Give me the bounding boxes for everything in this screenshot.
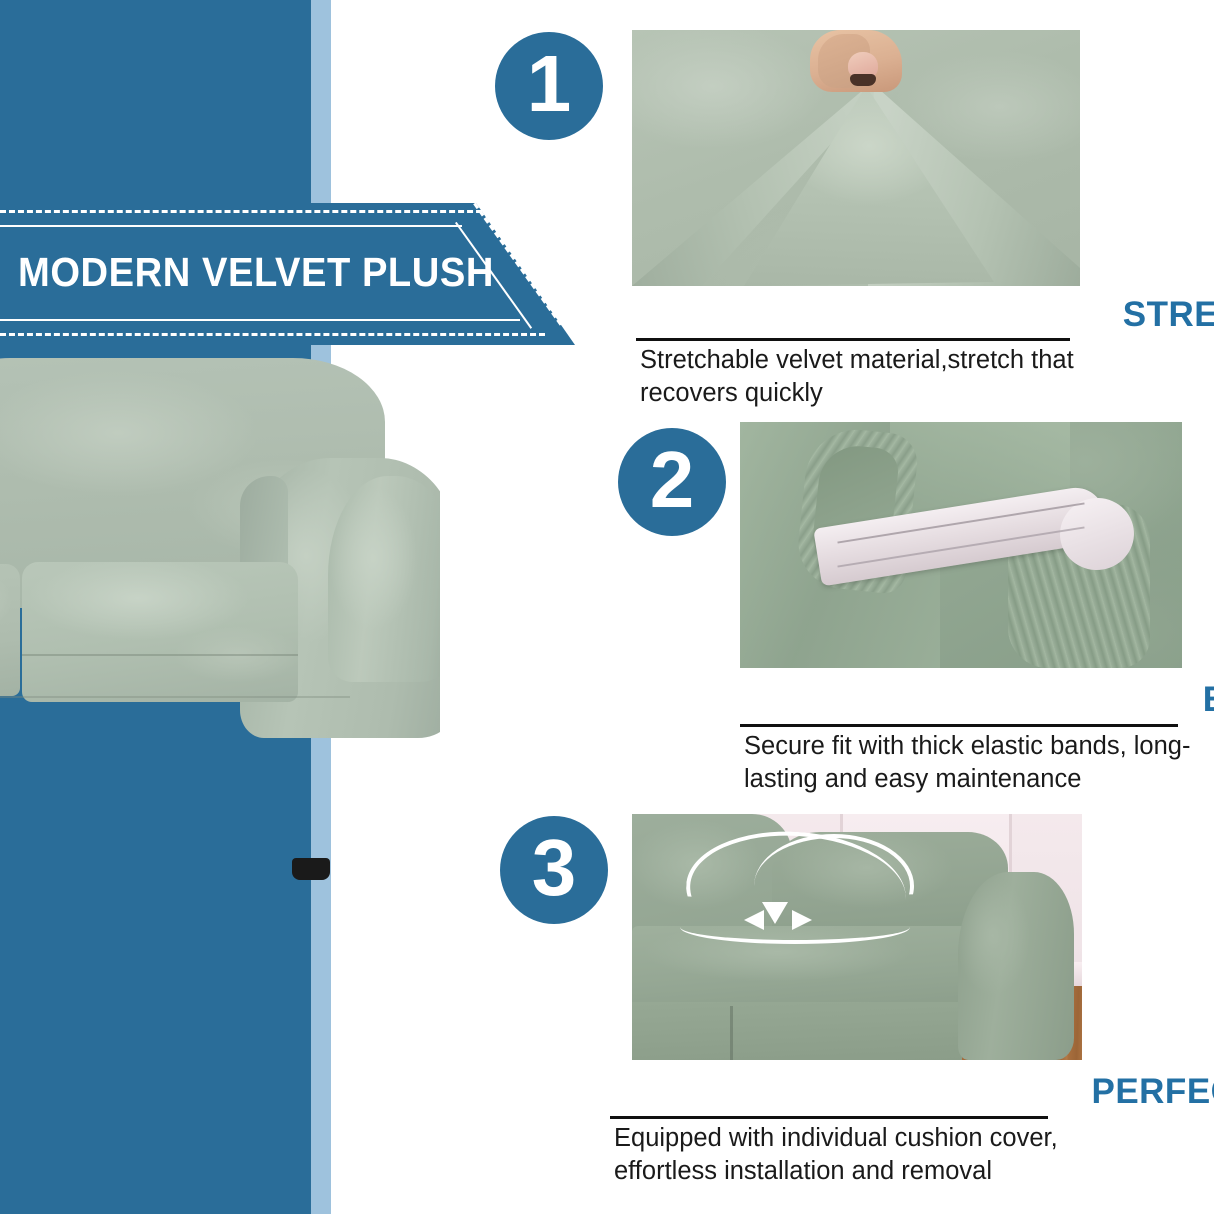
feature-title-3: PERFECT FIT: [600, 1072, 1214, 1112]
feature-title-1: STRETCHING: [632, 295, 1214, 335]
step-badge-1: 1: [495, 32, 603, 140]
banner-inner-border-top: [0, 225, 462, 227]
sofa-base-skirt: [0, 694, 350, 876]
sofa-right-mask: [440, 358, 520, 878]
sofa-arm: [958, 872, 1074, 1060]
feature-divider-2: [740, 724, 1178, 727]
product-sofa-image: [0, 358, 500, 878]
step-badge-3: 3: [500, 816, 608, 924]
annotation-arrowhead-left-icon: [744, 910, 764, 930]
sofa-cushion-gap: [730, 1006, 733, 1060]
banner: MODERN VELVET PLUSH: [0, 203, 575, 345]
banner-title: MODERN VELVET PLUSH: [18, 249, 494, 296]
sofa-skirt-seam: [0, 696, 350, 698]
banner-dashed-line-bottom: [0, 333, 545, 336]
sofa-cushion-seam: [22, 654, 298, 656]
feature-photo-2-elastic-cord: [740, 422, 1182, 668]
infographic-canvas: MODERN VELVET PLUSH 1 STRETCHING Stretch…: [0, 0, 1214, 1214]
banner-dashed-line-top: [0, 210, 500, 213]
step-badge-2: 2: [618, 428, 726, 536]
annotation-arrowhead-right-icon: [792, 910, 812, 930]
annotation-arrowhead-center-icon: [762, 902, 788, 924]
feature-photo-1-stretching: [632, 30, 1080, 286]
left-blue-panel-lower: [0, 935, 311, 1214]
feature-description-3: Equipped with individual cushion cover, …: [614, 1122, 1084, 1187]
feature-title-2: ELASTIC CORD: [730, 680, 1214, 720]
feature-divider-3: [610, 1116, 1048, 1119]
sofa-foot: [292, 858, 330, 880]
feature-description-2: Secure fit with thick elastic bands, lon…: [744, 730, 1194, 795]
sofa-seat-cushion-right: [22, 562, 298, 702]
banner-inner-border-bottom: [0, 319, 520, 321]
feature-description-1: Stretchable velvet material,stretch that…: [640, 344, 1080, 409]
feature-photo-3-perfect-fit: [632, 814, 1082, 1060]
thumb-tip-shadow: [850, 74, 876, 86]
feature-divider-1: [636, 338, 1070, 341]
sofa-seat-front-face: [632, 1002, 962, 1060]
sofa-seat-cushion-left: [0, 564, 20, 696]
